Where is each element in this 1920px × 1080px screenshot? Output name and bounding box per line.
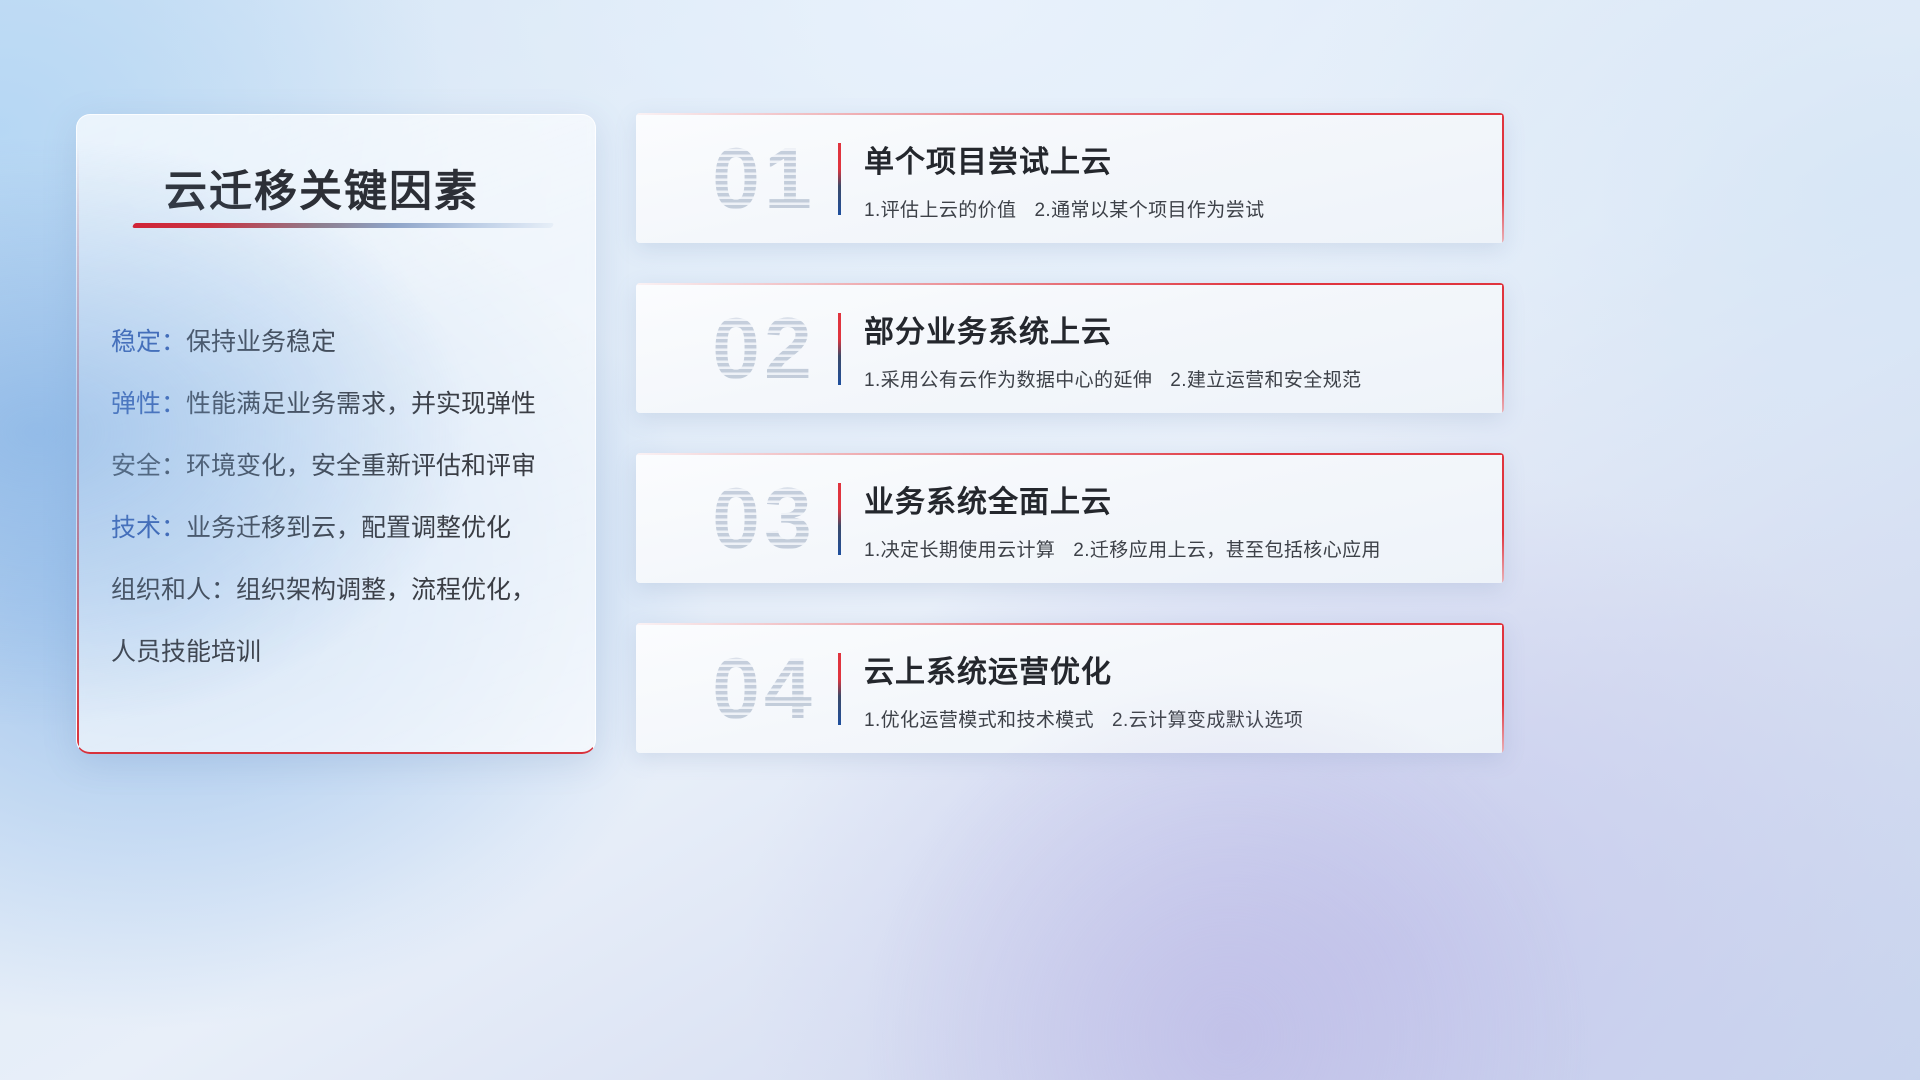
- migration-stage-list: 01 单个项目尝试上云 1.评估上云的价值2.通常以某个项目作为尝试 02 部分…: [636, 113, 1504, 793]
- factor-label: 安全：: [111, 452, 186, 480]
- factor-label: 弹性：: [111, 390, 186, 418]
- stage-desc-part-2: 2.迁移应用上云，甚至包括核心应用: [1073, 540, 1381, 561]
- stage-desc-part-1: 1.决定长期使用云计算: [864, 540, 1055, 561]
- stage-desc-part-1: 1.采用公有云作为数据中心的延伸: [864, 370, 1152, 391]
- stage-description: 1.评估上云的价值2.通常以某个项目作为尝试: [864, 195, 1480, 222]
- stage-number: 01: [664, 127, 864, 231]
- stage-card-04[interactable]: 04 云上系统运营优化 1.优化运营模式和技术模式2.云计算变成默认选项: [636, 623, 1504, 753]
- stage-title: 部分业务系统上云: [864, 307, 1480, 351]
- stage-card-03[interactable]: 03 业务系统全面上云 1.决定长期使用云计算2.迁移应用上云，甚至包括核心应用: [636, 453, 1504, 583]
- list-item: 稳定：保持业务稳定: [111, 311, 577, 373]
- accent-bar: [838, 653, 841, 725]
- stage-description: 1.优化运营模式和技术模式2.云计算变成默认选项: [864, 705, 1480, 732]
- stage-number: 04: [664, 637, 864, 741]
- title-underline-rule: [132, 223, 554, 228]
- stage-desc-part-2: 2.云计算变成默认选项: [1112, 710, 1303, 731]
- factor-text: 性能满足业务需求，并实现弹性: [186, 390, 536, 418]
- page-title: 云迁移关键因素: [164, 157, 479, 219]
- stage-title: 业务系统全面上云: [864, 477, 1480, 521]
- stage-desc-part-1: 1.优化运营模式和技术模式: [864, 710, 1094, 731]
- factor-label: 技术：: [111, 514, 186, 542]
- stage-title: 单个项目尝试上云: [864, 137, 1480, 181]
- list-item: 安全：环境变化，安全重新评估和评审: [111, 435, 577, 497]
- stage-body: 单个项目尝试上云 1.评估上云的价值2.通常以某个项目作为尝试: [864, 137, 1480, 222]
- stage-body: 部分业务系统上云 1.采用公有云作为数据中心的延伸2.建立运营和安全规范: [864, 307, 1480, 392]
- list-item: 弹性：性能满足业务需求，并实现弹性: [111, 373, 577, 435]
- list-item-continuation: 人员技能培训: [111, 621, 577, 683]
- accent-bar: [838, 143, 841, 215]
- factor-text: 保持业务稳定: [186, 328, 336, 356]
- stage-desc-part-2: 2.建立运营和安全规范: [1170, 370, 1361, 391]
- stage-card-01[interactable]: 01 单个项目尝试上云 1.评估上云的价值2.通常以某个项目作为尝试: [636, 113, 1504, 243]
- list-item: 组织和人：组织架构调整，流程优化，: [111, 559, 577, 621]
- factor-label: 稳定：: [111, 328, 186, 356]
- stage-title: 云上系统运营优化: [864, 647, 1480, 691]
- stage-body: 云上系统运营优化 1.优化运营模式和技术模式2.云计算变成默认选项: [864, 647, 1480, 732]
- accent-bar: [838, 483, 841, 555]
- factor-text: 组织架构调整，流程优化，: [236, 576, 536, 604]
- stage-description: 1.采用公有云作为数据中心的延伸2.建立运营和安全规范: [864, 365, 1480, 392]
- stage-body: 业务系统全面上云 1.决定长期使用云计算2.迁移应用上云，甚至包括核心应用: [864, 477, 1480, 562]
- factor-label: 组织和人：: [111, 576, 236, 604]
- slide-canvas: 云迁移关键因素 稳定：保持业务稳定 弹性：性能满足业务需求，并实现弹性 安全：环…: [0, 0, 1920, 1080]
- key-factors-panel: 云迁移关键因素 稳定：保持业务稳定 弹性：性能满足业务需求，并实现弹性 安全：环…: [76, 114, 596, 754]
- list-item: 技术：业务迁移到云，配置调整优化: [111, 497, 577, 559]
- stage-desc-part-1: 1.评估上云的价值: [864, 200, 1016, 221]
- factor-text: 人员技能培训: [111, 638, 261, 666]
- factor-text: 业务迁移到云，配置调整优化: [186, 514, 511, 542]
- stage-desc-part-2: 2.通常以某个项目作为尝试: [1034, 200, 1264, 221]
- accent-bar: [838, 313, 841, 385]
- factor-text: 环境变化，安全重新评估和评审: [186, 452, 536, 480]
- stage-number: 02: [664, 297, 864, 401]
- stage-number: 03: [664, 467, 864, 571]
- stage-card-02[interactable]: 02 部分业务系统上云 1.采用公有云作为数据中心的延伸2.建立运营和安全规范: [636, 283, 1504, 413]
- stage-description: 1.决定长期使用云计算2.迁移应用上云，甚至包括核心应用: [864, 535, 1480, 562]
- factor-list: 稳定：保持业务稳定 弹性：性能满足业务需求，并实现弹性 安全：环境变化，安全重新…: [111, 311, 577, 683]
